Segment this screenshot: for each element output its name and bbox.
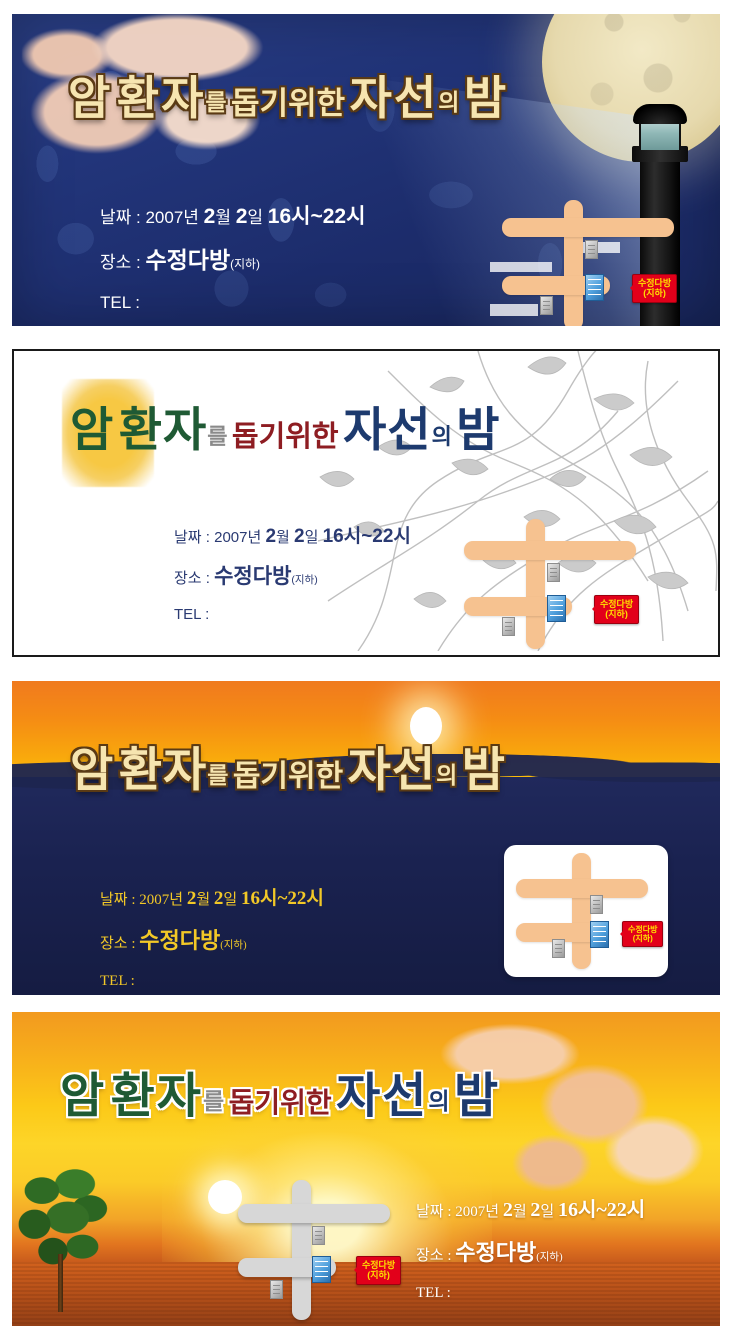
banner-sunrise-field-hands[interactable]: 암 환자를 돕기위한 자선의 밤 날짜 : 2007년 2월 2일 16시~22… <box>12 1012 720 1326</box>
title-word-am: 암 <box>70 403 114 456</box>
title-particle-ui: 의 <box>436 762 457 788</box>
place-value: 수정다방 <box>145 247 230 273</box>
tree-trunk <box>58 1254 63 1312</box>
banner-white-vines[interactable]: 암 환자를 돕기위한 자선의 밤 날짜 : 2007년 2월 2일 16시~22… <box>12 349 720 657</box>
map-building <box>552 939 565 958</box>
title-particle-reul: 를 <box>205 89 226 115</box>
event-date-row: 날짜 : 2007년 2월 2일 16시~22시 <box>100 889 324 908</box>
map-road-horizontal-top <box>516 879 648 898</box>
map-road-vertical <box>572 853 591 969</box>
title-word-jaseon: 자선 <box>350 72 439 124</box>
map-destination-building <box>547 595 566 622</box>
title-word-am: 암 <box>60 1070 106 1123</box>
date-label: 날짜 : <box>100 892 136 908</box>
title-particle-ui: 의 <box>438 89 459 115</box>
banner-title: 암 환자를 돕기위한 자선의 밤 <box>68 62 668 128</box>
event-place-row: 장소 : 수정다방(지하) <box>174 566 411 587</box>
event-tel-row: TEL : <box>100 294 365 311</box>
map-road-vertical <box>292 1180 311 1320</box>
title-particle-reul: 를 <box>203 1088 224 1114</box>
title-word-am: 암 <box>70 743 114 796</box>
place-sub: (지하) <box>220 940 246 951</box>
date-day-unit: 일 <box>305 529 319 546</box>
banner-title: 암 환자를 돕기위한 자선의 밤 <box>70 731 690 800</box>
date-day-number: 2 <box>294 526 305 547</box>
map-building <box>502 617 515 636</box>
date-day-number: 2 <box>530 1199 540 1221</box>
title-word-am: 암 <box>68 72 112 124</box>
date-month-unit: 월 <box>215 208 231 227</box>
event-place-row: 장소 : 수정다방(지하) <box>100 930 324 952</box>
date-month-number: 2 <box>503 1199 513 1221</box>
date-year: 2007년 <box>139 892 183 908</box>
date-day-unit: 일 <box>223 892 237 908</box>
map-building <box>547 563 560 582</box>
map-building <box>312 1226 325 1245</box>
date-day-number: 2 <box>214 888 224 909</box>
place-value: 수정다방 <box>455 1240 536 1265</box>
map-white-card: 수정다방 (지하) <box>504 845 668 977</box>
place-label: 장소 : <box>174 570 210 587</box>
map-destination-building <box>590 921 609 948</box>
date-label: 날짜 : <box>100 208 141 227</box>
place-sub: (지하) <box>536 1252 562 1263</box>
banner-title: 암 환자를 돕기위한 자선의 밤 <box>60 1056 700 1126</box>
event-info-block: 날짜 : 2007년 2월 2일 16시~22시 장소 : 수정다방(지하) T… <box>416 1200 645 1323</box>
title-word-hwanja: 환자 <box>119 743 207 796</box>
map-destination-callout: 수정다방 (지하) <box>356 1256 401 1285</box>
event-tel-row: TEL : <box>174 607 411 622</box>
event-info-block: 날짜 : 2007년 2월 2일 16시~22시 장소 : 수정다방(지하) T… <box>174 527 411 642</box>
title-word-hwanja: 환자 <box>111 1070 203 1123</box>
map-destination-callout: 수정다방 (지하) <box>594 595 639 624</box>
place-sub: (지하) <box>230 257 260 271</box>
title-word-hwanja: 환자 <box>119 403 207 456</box>
date-time-range: 16시~22시 <box>241 888 324 909</box>
title-word-jaseon: 자선 <box>343 403 431 456</box>
title-word-hwanja: 환자 <box>117 72 206 124</box>
title-particle-ui: 의 <box>428 1088 449 1114</box>
callout-line2: (지하) <box>367 1270 390 1280</box>
title-word-jaseon: 자선 <box>336 1070 428 1123</box>
event-date-row: 날짜 : 2007년 2월 2일 16시~22시 <box>100 206 365 227</box>
banner-title: 암 환자를 돕기위한 자선의 밤 <box>70 391 690 460</box>
map-building <box>590 895 603 914</box>
place-label: 장소 : <box>100 253 141 272</box>
map-destination-building <box>312 1256 331 1283</box>
map-road-horizontal-top <box>464 541 636 560</box>
location-map-graphic: 수정다방 (지하) <box>452 519 652 649</box>
location-map-graphic: 수정다방 (지하) <box>510 853 662 969</box>
date-month-unit: 월 <box>513 1204 527 1220</box>
title-particle-reul: 를 <box>207 424 227 449</box>
callout-line1: 수정다방 <box>628 925 657 934</box>
date-time-range: 16시~22시 <box>268 205 366 228</box>
banner-design-sheet: 암 환자를 돕기위한 자선의 밤 날짜 : 2007년 2월 2일 16시~22… <box>0 0 733 1339</box>
tel-label: TEL : <box>174 606 209 623</box>
map-label-plate <box>490 304 538 316</box>
callout-line1: 수정다방 <box>600 599 633 609</box>
event-info-block: 날짜 : 2007년 2월 2일 16시~22시 장소 : 수정다방(지하) T… <box>100 889 324 995</box>
date-year: 2007년 <box>455 1204 499 1220</box>
location-map-graphic: 수정다방 (지하) <box>490 200 690 326</box>
date-month-number: 2 <box>265 526 276 547</box>
tel-label: TEL : <box>100 973 135 989</box>
map-destination-callout: 수정다방 (지하) <box>632 274 677 303</box>
date-year: 2007년 <box>145 208 198 227</box>
title-word-dopgiwihan: 돕기위한 <box>231 86 345 121</box>
banner-sunset-navy[interactable]: 암 환자를 돕기위한 자선의 밤 날짜 : 2007년 2월 2일 16시~22… <box>12 681 720 995</box>
title-word-dopgiwihan: 돕기위한 <box>233 760 343 793</box>
title-word-jaseon: 자선 <box>348 743 436 796</box>
title-word-bam: 밤 <box>456 403 500 456</box>
tel-label: TEL : <box>100 293 140 312</box>
callout-line1: 수정다방 <box>638 278 671 288</box>
event-info-block: 날짜 : 2007년 2월 2일 16시~22시 장소 : 수정다방(지하) T… <box>100 206 365 326</box>
place-label: 장소 : <box>100 936 136 952</box>
title-word-dopgiwihan: 돕기위한 <box>232 421 339 453</box>
date-day-unit: 일 <box>247 208 263 227</box>
date-day-unit: 일 <box>540 1204 554 1220</box>
title-word-dopgiwihan: 돕기위한 <box>229 1087 332 1118</box>
map-road-vertical <box>526 519 545 649</box>
title-particle-reul: 를 <box>207 762 228 788</box>
date-year: 2007년 <box>214 529 261 546</box>
date-time-range: 16시~22시 <box>323 526 411 547</box>
title-word-bam: 밤 <box>454 1070 500 1123</box>
map-building <box>270 1280 283 1299</box>
callout-line2: (지하) <box>643 288 666 298</box>
event-place-row: 장소 : 수정다방(지하) <box>100 249 365 272</box>
banner-night-moon-lighthouse[interactable]: 암 환자를 돕기위한 자선의 밤 날짜 : 2007년 2월 2일 16시~22… <box>12 14 720 326</box>
event-date-row: 날짜 : 2007년 2월 2일 16시~22시 <box>174 527 411 546</box>
place-value: 수정다방 <box>139 928 220 953</box>
title-word-bam: 밤 <box>462 743 506 796</box>
event-place-row: 장소 : 수정다방(지하) <box>416 1242 645 1264</box>
map-label-plate <box>490 262 552 272</box>
date-month-unit: 월 <box>276 529 290 546</box>
location-map-graphic: 수정다방 (지하) <box>230 1180 430 1320</box>
place-sub: (지하) <box>291 574 317 586</box>
tree-canopy <box>18 1166 110 1278</box>
place-value: 수정다방 <box>214 565 291 588</box>
map-building <box>585 240 598 259</box>
event-tel-row: TEL : <box>100 974 324 989</box>
callout-line2: (지하) <box>605 609 628 619</box>
map-destination-building <box>585 274 604 301</box>
callout-line2: (지하) <box>633 934 653 943</box>
date-month-number: 2 <box>187 888 197 909</box>
map-building <box>540 296 553 315</box>
title-particle-ui: 의 <box>432 424 452 449</box>
title-word-bam: 밤 <box>464 72 508 124</box>
date-label: 날짜 : <box>174 529 210 546</box>
map-road-horizontal-top <box>502 218 674 237</box>
date-month-unit: 월 <box>196 892 210 908</box>
event-date-row: 날짜 : 2007년 2월 2일 16시~22시 <box>416 1200 645 1220</box>
date-month-number: 2 <box>204 205 216 228</box>
map-road-horizontal-top <box>238 1204 390 1223</box>
map-destination-callout: 수정다방 (지하) <box>622 921 663 947</box>
date-day-number: 2 <box>236 205 248 228</box>
callout-line1: 수정다방 <box>362 1260 395 1270</box>
event-tel-row: TEL : <box>416 1286 645 1301</box>
tree-graphic <box>18 1166 114 1316</box>
date-time-range: 16시~22시 <box>558 1199 645 1221</box>
